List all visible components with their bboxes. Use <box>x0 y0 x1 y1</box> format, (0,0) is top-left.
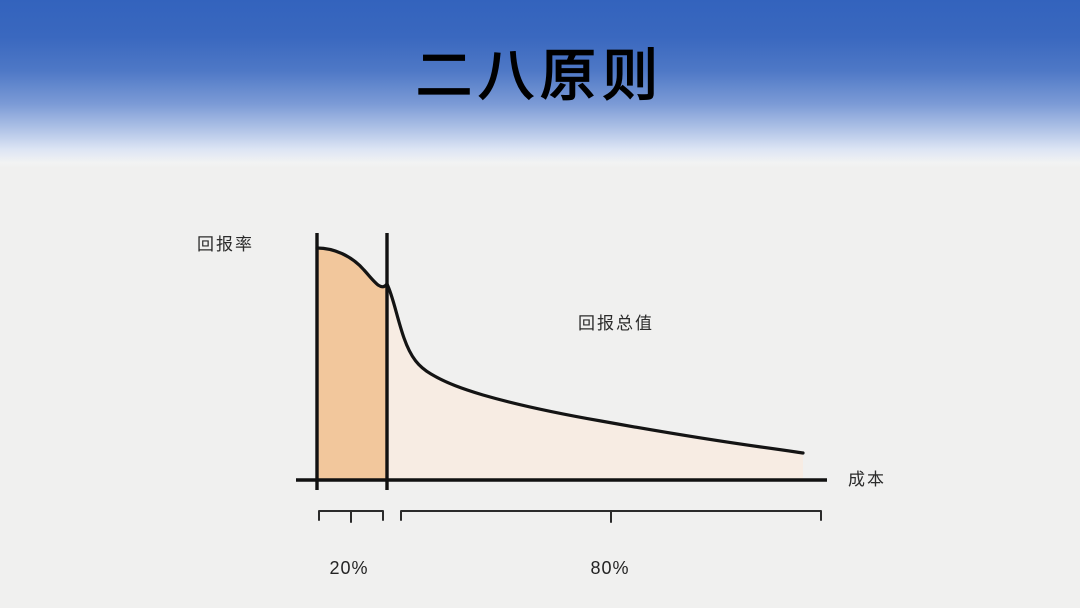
area-annotation-label: 回报总值 <box>578 309 654 334</box>
y-axis-label: 回报率 <box>197 230 254 255</box>
pareto-area-chart <box>0 168 1080 608</box>
chart-area: 回报率 回报总值 成本 20% 80% <box>0 168 1080 608</box>
slide-root: 二八原则 <box>0 0 1080 608</box>
bracket-label-80-percent: 80% <box>561 558 659 579</box>
bracket-label-20-percent: 20% <box>300 558 398 579</box>
area-fill-80-percent <box>317 248 803 480</box>
x-axis-label: 成本 <box>848 465 886 490</box>
page-title: 二八原则 <box>0 48 1080 104</box>
